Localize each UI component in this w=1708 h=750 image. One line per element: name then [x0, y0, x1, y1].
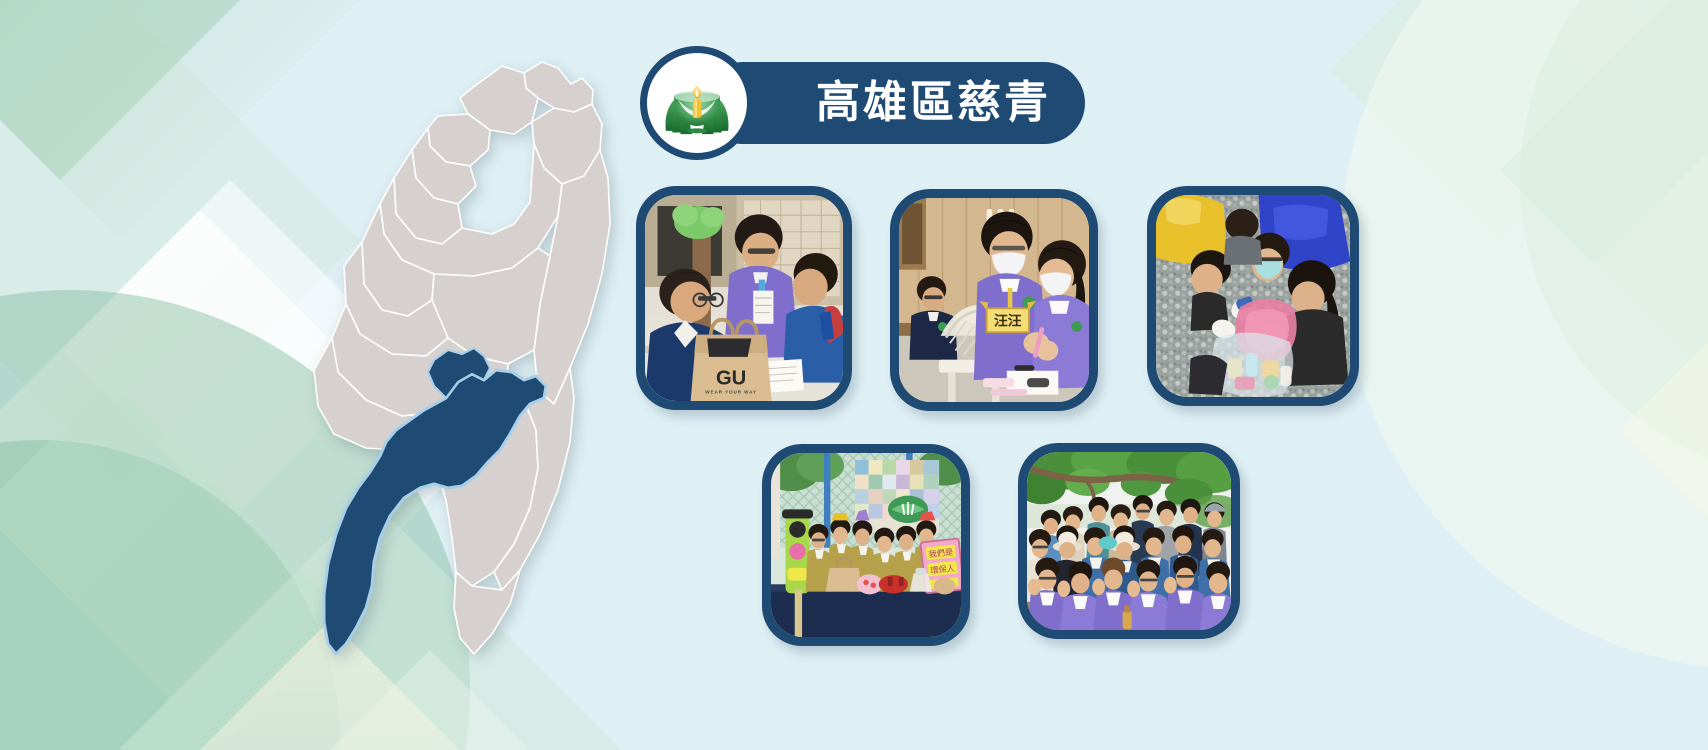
photo-card-group-photo-under-tree[interactable] — [1018, 443, 1240, 639]
taiwan-map — [262, 38, 622, 678]
tzu-chi-lotus-candle-logo — [640, 46, 754, 160]
header-title-pill: 高雄區慈青 — [702, 62, 1085, 144]
photo-frame: GU WEAR YOUR WAY — [645, 195, 843, 401]
photo-purple-uniform-workshop: 汪汪 — [899, 198, 1089, 402]
banner-stage: 高雄區慈青 — [0, 0, 1708, 750]
svg-text:WEAR YOUR WAY: WEAR YOUR WAY — [705, 390, 757, 395]
photo-frame: 我們是 環保人 — [771, 453, 961, 637]
photo-card-purple-uniform-workshop[interactable]: 汪汪 — [890, 189, 1098, 411]
photo-frame: 汪汪 — [899, 198, 1089, 402]
lotus-candle-icon — [656, 62, 738, 144]
photo-frame — [1027, 452, 1231, 630]
photo-frame — [1156, 195, 1350, 397]
map-region-hengchun — [454, 570, 520, 654]
taiwan-map-svg — [262, 38, 622, 678]
photo-beach-cleanup-recycling — [1156, 195, 1350, 397]
photo-group-photo-under-tree — [1027, 452, 1231, 630]
svg-text:GU: GU — [716, 367, 746, 389]
photo-students-gu-bag: GU WEAR YOUR WAY — [645, 195, 843, 401]
page-title: 高雄區慈青 — [816, 81, 1051, 125]
photo-card-beach-cleanup-recycling[interactable] — [1147, 186, 1359, 406]
photo-card-students-gu-bag[interactable]: GU WEAR YOUR WAY — [636, 186, 852, 410]
photo-card-exhibition-booth[interactable]: 我們是 環保人 — [762, 444, 970, 646]
svg-text:汪汪: 汪汪 — [994, 313, 1022, 330]
photo-exhibition-booth: 我們是 環保人 — [771, 453, 961, 637]
